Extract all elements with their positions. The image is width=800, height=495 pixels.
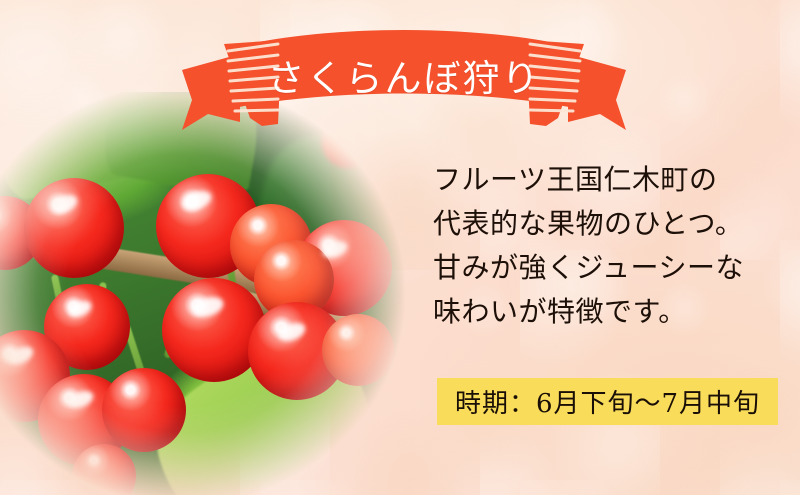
title-ribbon: さくらんぼ狩り: [178, 18, 630, 138]
cherry: [24, 178, 124, 278]
ribbon-title-text: さくらんぼ狩り: [178, 48, 630, 102]
season-badge: 時期：6月下旬〜7月中旬: [437, 378, 778, 425]
cherry: [322, 314, 394, 386]
cherry-photo: [0, 92, 426, 495]
description-line-4: 味わいが特徴です。: [433, 290, 763, 334]
description-line-1: フルーツ王国仁木町の: [433, 158, 763, 202]
description-line-2: 代表的な果物のひとつ。: [433, 202, 763, 246]
cherry: [102, 368, 186, 452]
description-block: フルーツ王国仁木町の 代表的な果物のひとつ。 甘みが強くジューシーな 味わいが特…: [433, 158, 763, 334]
description-line-3: 甘みが強くジューシーな: [433, 246, 763, 290]
season-badge-text: 時期：6月下旬〜7月中旬: [455, 383, 760, 420]
promo-card: さくらんぼ狩り フルーツ王国仁木町の 代表的な果物のひとつ。 甘みが強くジューシ…: [0, 0, 800, 495]
